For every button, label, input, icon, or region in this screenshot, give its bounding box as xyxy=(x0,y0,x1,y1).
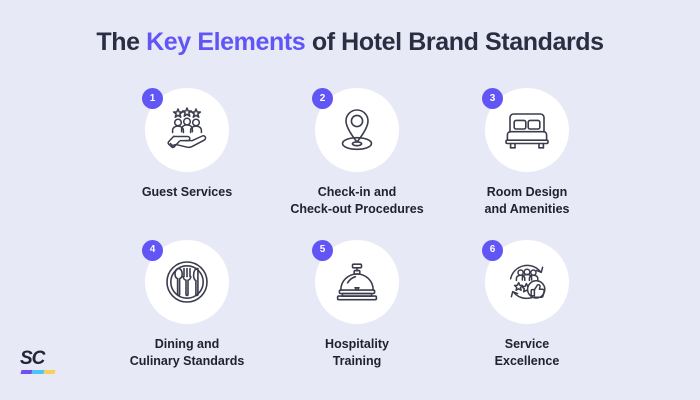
bed-icon xyxy=(501,104,553,156)
badge-number: 6 xyxy=(482,240,503,261)
card-label: Guest Services xyxy=(142,184,232,201)
elements-grid: 1 xyxy=(102,88,612,392)
card-check-in-out[interactable]: 2 Check-in and Check-out Procedures xyxy=(272,88,442,218)
badge-number: 4 xyxy=(142,240,163,261)
card-label: Check-in and Check-out Procedures xyxy=(290,184,423,218)
badge-number: 1 xyxy=(142,88,163,109)
icon-wrap: 2 xyxy=(315,88,399,172)
icon-wrap: 5 xyxy=(315,240,399,324)
icon-wrap: 6 xyxy=(485,240,569,324)
card-label: Service Excellence xyxy=(495,336,560,370)
icon-wrap: 4 xyxy=(145,240,229,324)
card-label: Room Design and Amenities xyxy=(485,184,570,218)
people-stars-thumbsup-cycle-icon xyxy=(501,256,553,308)
brand-logo[interactable]: SC xyxy=(20,349,62,383)
brand-logo-text: SC xyxy=(20,349,62,368)
card-room-design[interactable]: 3 xyxy=(442,88,612,218)
brand-logo-bar-yellow xyxy=(44,370,56,374)
service-bell-icon xyxy=(331,256,383,308)
hand-holding-people-stars-icon xyxy=(160,103,214,157)
page-title-accent: Key Elements xyxy=(146,28,305,56)
badge-number: 3 xyxy=(482,88,503,109)
card-hospitality-training[interactable]: 5 xyxy=(272,240,442,370)
page-title-part1: The xyxy=(96,28,146,56)
brand-logo-bars xyxy=(21,370,56,374)
page-title: The Key Elements of Hotel Brand Standard… xyxy=(0,28,700,57)
icon-wrap: 3 xyxy=(485,88,569,172)
location-pin-icon xyxy=(331,104,383,156)
icon-wrap: 1 xyxy=(145,88,229,172)
card-label: Hospitality Training xyxy=(325,336,389,370)
card-guest-services[interactable]: 1 xyxy=(102,88,272,218)
page-title-part2: of Hotel Brand Standards xyxy=(305,28,603,56)
plate-cutlery-icon xyxy=(161,256,213,308)
card-service-excellence[interactable]: 6 xyxy=(442,240,612,370)
badge-number: 5 xyxy=(312,240,333,261)
badge-number: 2 xyxy=(312,88,333,109)
card-dining[interactable]: 4 Dining and Culinary Standards xyxy=(102,240,272,370)
card-label: Dining and Culinary Standards xyxy=(130,336,245,370)
